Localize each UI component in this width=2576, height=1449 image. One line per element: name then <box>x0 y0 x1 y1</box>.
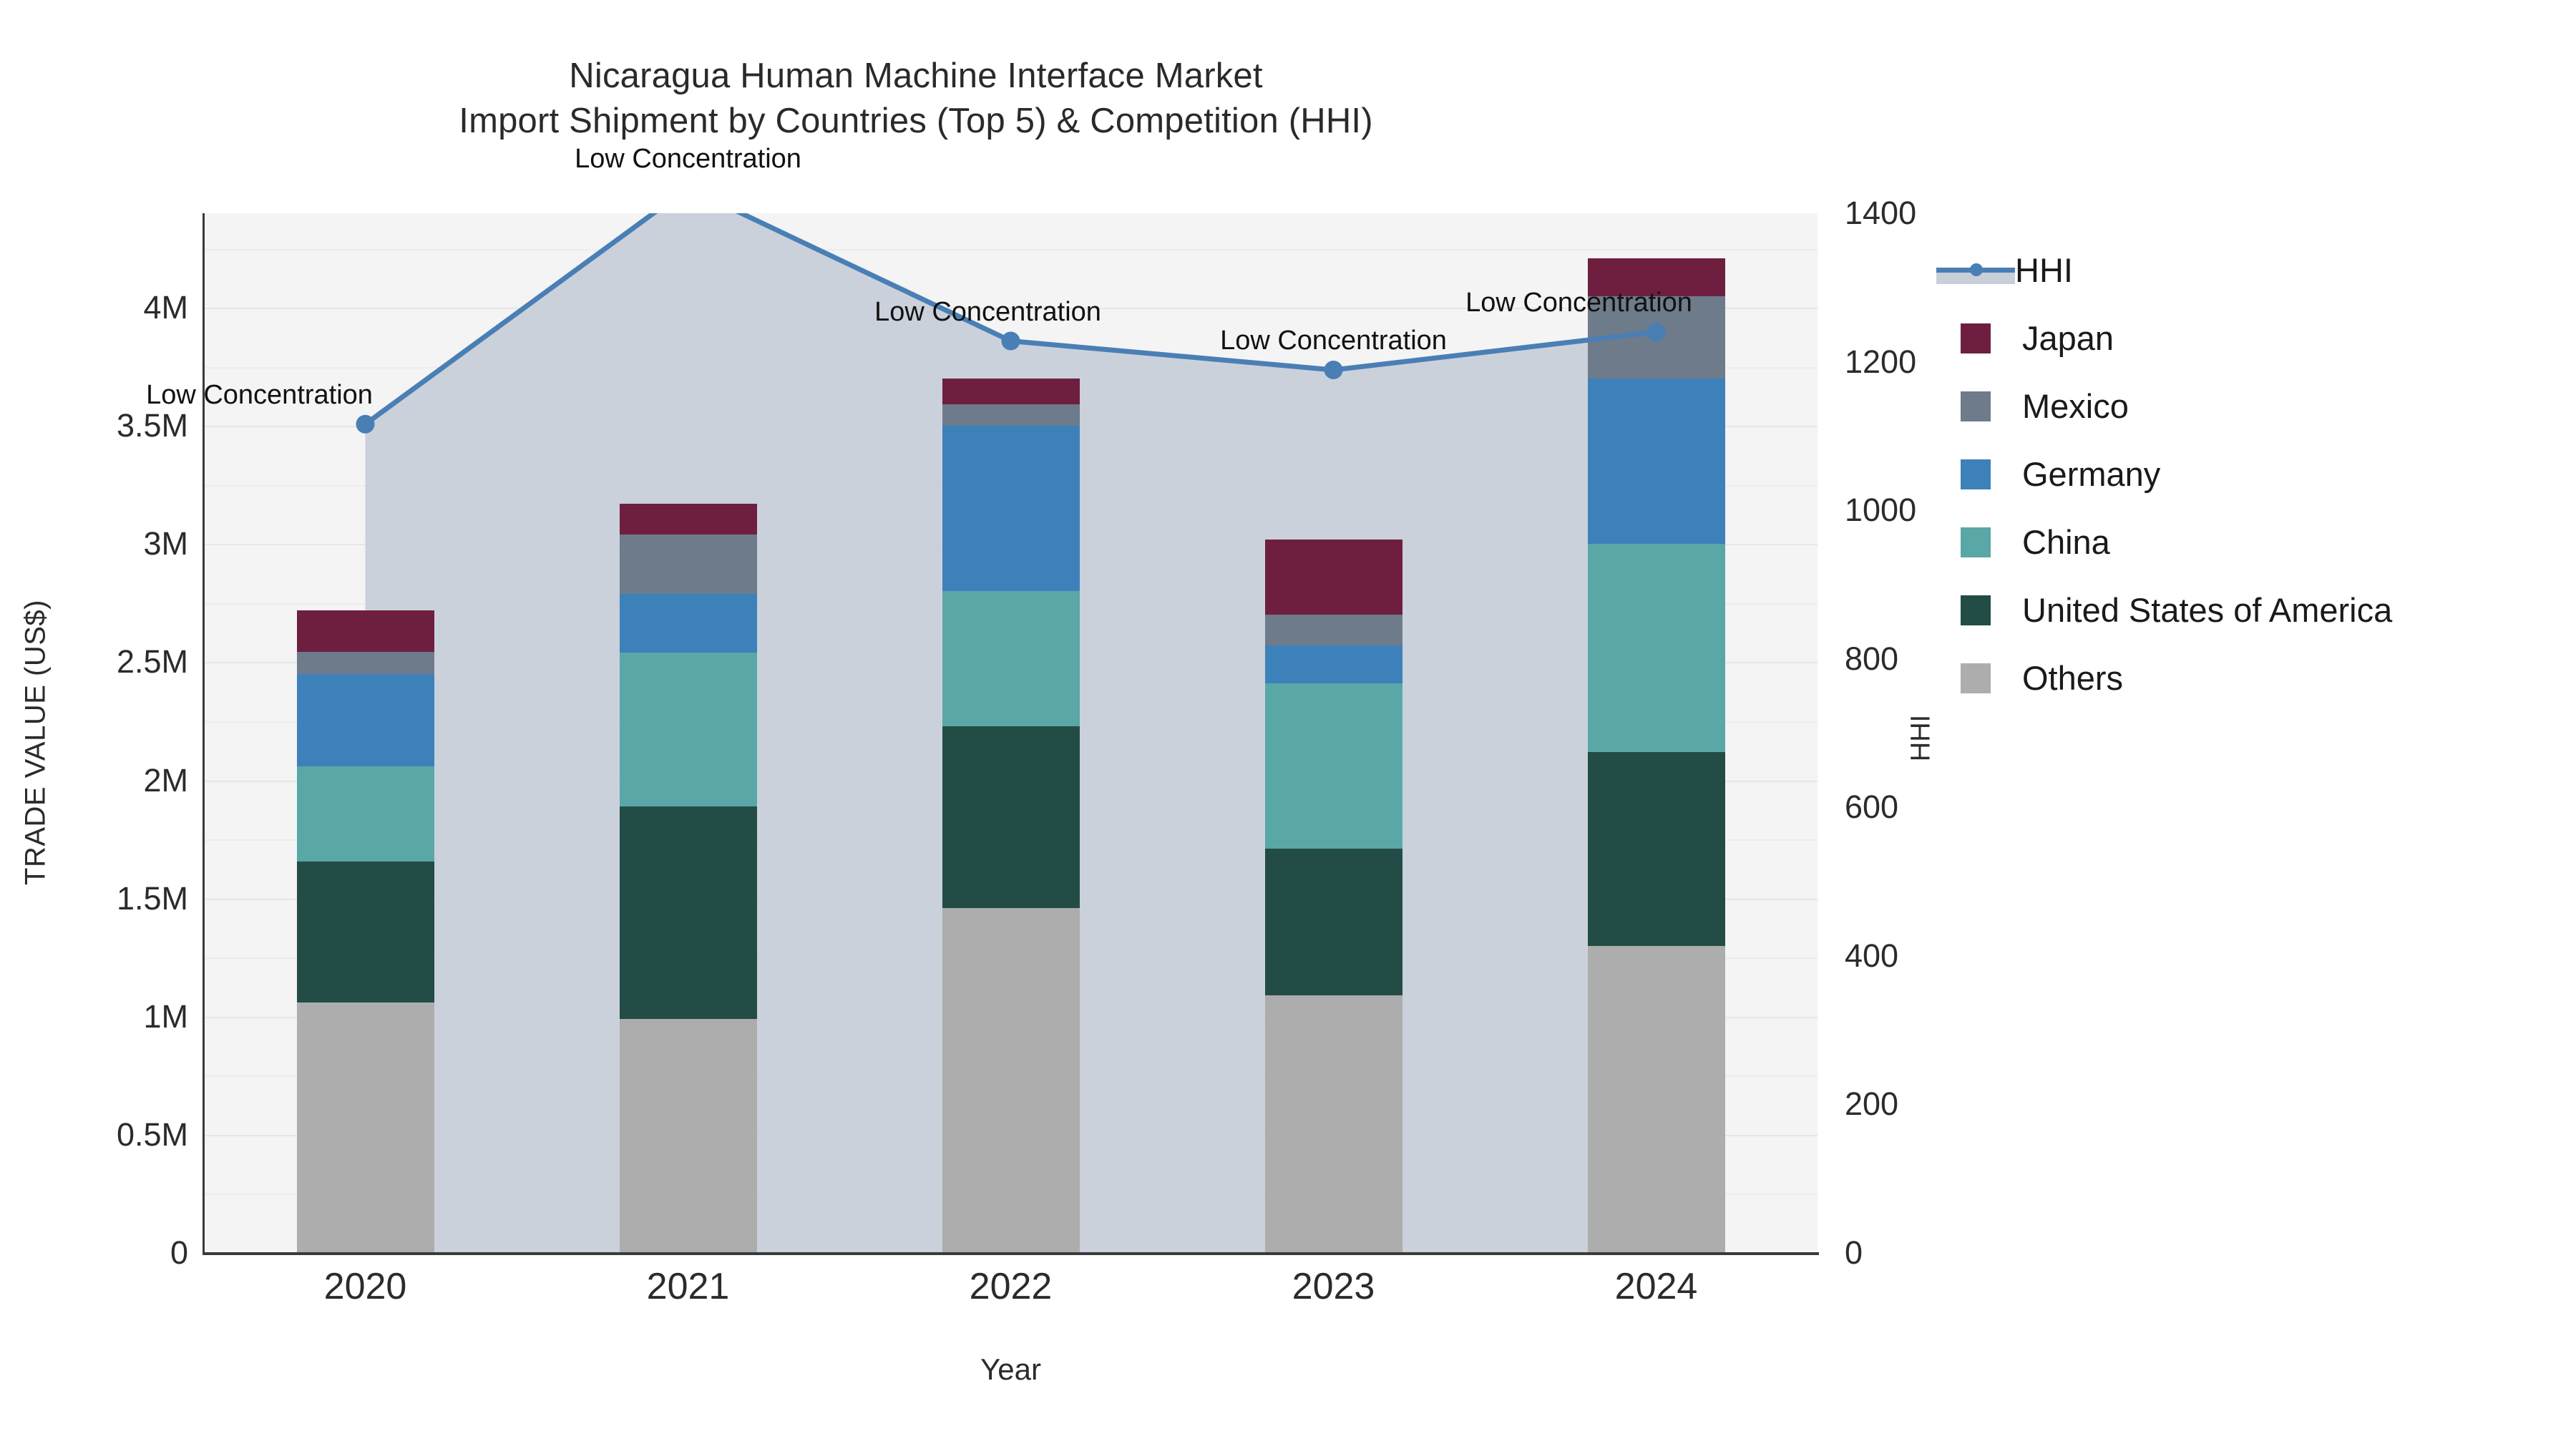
legend-label: China <box>2022 522 2110 562</box>
x-axis-tick: 2020 <box>324 1265 407 1308</box>
x-axis-label: Year <box>204 1352 1818 1387</box>
x-axis-tick: 2022 <box>970 1265 1053 1308</box>
y-axis-right-tick: 600 <box>1845 789 1898 826</box>
legend-item-germany[interactable]: Germany <box>1961 440 2562 508</box>
y-axis-line <box>203 213 205 1254</box>
y-axis-right-tick: 800 <box>1845 640 1898 678</box>
y-axis-right-tick: 1000 <box>1845 492 1916 529</box>
y-axis-left-tick: 4M <box>143 289 188 326</box>
legend-swatch-icon <box>1961 391 1991 421</box>
legend-label: United States of America <box>2022 590 2392 630</box>
y-axis-left-tick: 0 <box>170 1234 188 1272</box>
y-axis-right-tick: 400 <box>1845 937 1898 975</box>
y-axis-left-tick: 2M <box>143 762 188 799</box>
annotation-low-concentration: Low Concentration <box>1220 326 1447 356</box>
legend-label: Germany <box>2022 454 2160 494</box>
y-axis-right-label: HHI <box>1906 645 1937 831</box>
title-line-1: Nicaragua Human Machine Interface Market <box>0 54 1832 99</box>
legend-swatch-icon <box>1961 459 1991 489</box>
annotation-low-concentration: Low Concentration <box>1465 288 1692 318</box>
x-axis-tick: 2021 <box>647 1265 730 1308</box>
y-axis-right-tick: 200 <box>1845 1085 1898 1123</box>
x-axis-tick: 2023 <box>1292 1265 1375 1308</box>
legend-item-japan[interactable]: Japan <box>1961 304 2562 372</box>
y-axis-left-tick: 0.5M <box>117 1116 188 1153</box>
legend-item-others[interactable]: Others <box>1961 644 2562 712</box>
chart-legend: HHIJapanMexicoGermanyChinaUnited States … <box>1961 236 2562 712</box>
legend-label: Japan <box>2022 318 2114 358</box>
y-axis-left-tick: 3M <box>143 525 188 562</box>
x-axis-tick: 2024 <box>1615 1265 1698 1308</box>
plot-area <box>204 213 1818 1253</box>
legend-swatch-icon <box>1961 323 1991 353</box>
legend-item-hhi[interactable]: HHI <box>1961 236 2562 304</box>
y-axis-left-label: TRADE VALUE (US$) <box>20 585 52 900</box>
chart-title: Nicaragua Human Machine Interface Market… <box>0 54 1832 143</box>
legend-item-mexico[interactable]: Mexico <box>1961 372 2562 440</box>
annotation-low-concentration: Low Concentration <box>575 144 801 175</box>
legend-item-china[interactable]: China <box>1961 508 2562 576</box>
legend-line-icon <box>1936 255 2015 286</box>
legend-swatch-icon <box>1961 663 1991 693</box>
y-axis-right-tick: 1400 <box>1845 195 1916 232</box>
y-axis-left-tick: 3.5M <box>117 407 188 444</box>
y-axis-right-tick: 1200 <box>1845 343 1916 381</box>
y-axis-left-tick: 1M <box>143 998 188 1035</box>
legend-swatch-icon <box>1961 527 1991 557</box>
legend-swatch-icon <box>1961 595 1991 625</box>
y-axis-left-tick: 1.5M <box>117 880 188 917</box>
title-line-2: Import Shipment by Countries (Top 5) & C… <box>0 99 1832 144</box>
legend-item-united-states-of-america[interactable]: United States of America <box>1961 576 2562 644</box>
annotation-low-concentration: Low Concentration <box>874 297 1101 328</box>
y-axis-left-tick: 2.5M <box>117 643 188 680</box>
x-axis-line <box>203 1252 1819 1255</box>
y-axis-right-tick: 0 <box>1845 1234 1863 1272</box>
legend-label: Mexico <box>2022 386 2129 426</box>
legend-label: Others <box>2022 658 2123 698</box>
chart-root: Nicaragua Human Machine Interface Market… <box>0 0 2576 1449</box>
annotation-low-concentration: Low Concentration <box>146 380 373 411</box>
hhi-line <box>204 213 1818 1253</box>
legend-label: HHI <box>2015 250 2073 290</box>
